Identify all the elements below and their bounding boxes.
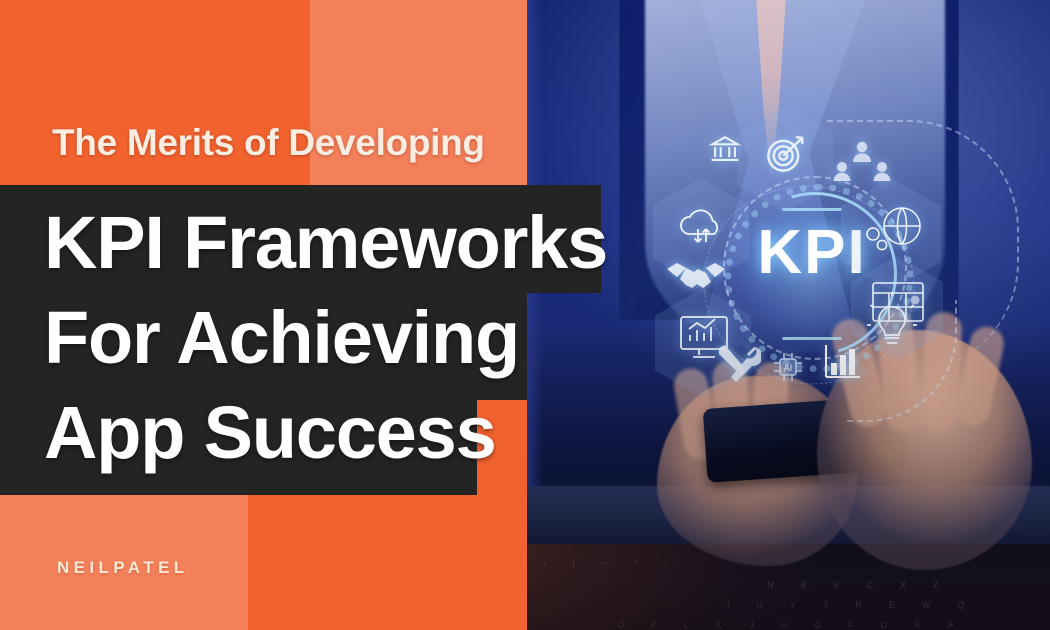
headline-line-3: App Success [44,385,644,480]
brand-wordmark: NEILPATEL [57,558,189,578]
ai-chip-icon: AI [769,348,807,386]
bar-chart-icon [821,340,865,384]
headline: KPI Frameworks For Achieving App Success [44,195,644,480]
cloud-sync-icon [673,198,731,256]
banner-canvas: \|¬° NBVCXZ IUYTREWQ OPLKJHGFDSA [0,0,1050,630]
headline-line-1: KPI Frameworks [44,195,644,290]
headline-line-2: For Achieving [44,290,644,385]
kicker-text: The Merits of Developing [52,122,485,164]
target-icon [761,130,809,178]
lightbulb-icon [863,290,921,352]
tools-icon [711,338,763,390]
globe-gears-icon [857,196,929,262]
svg-text:AI: AI [784,363,793,373]
